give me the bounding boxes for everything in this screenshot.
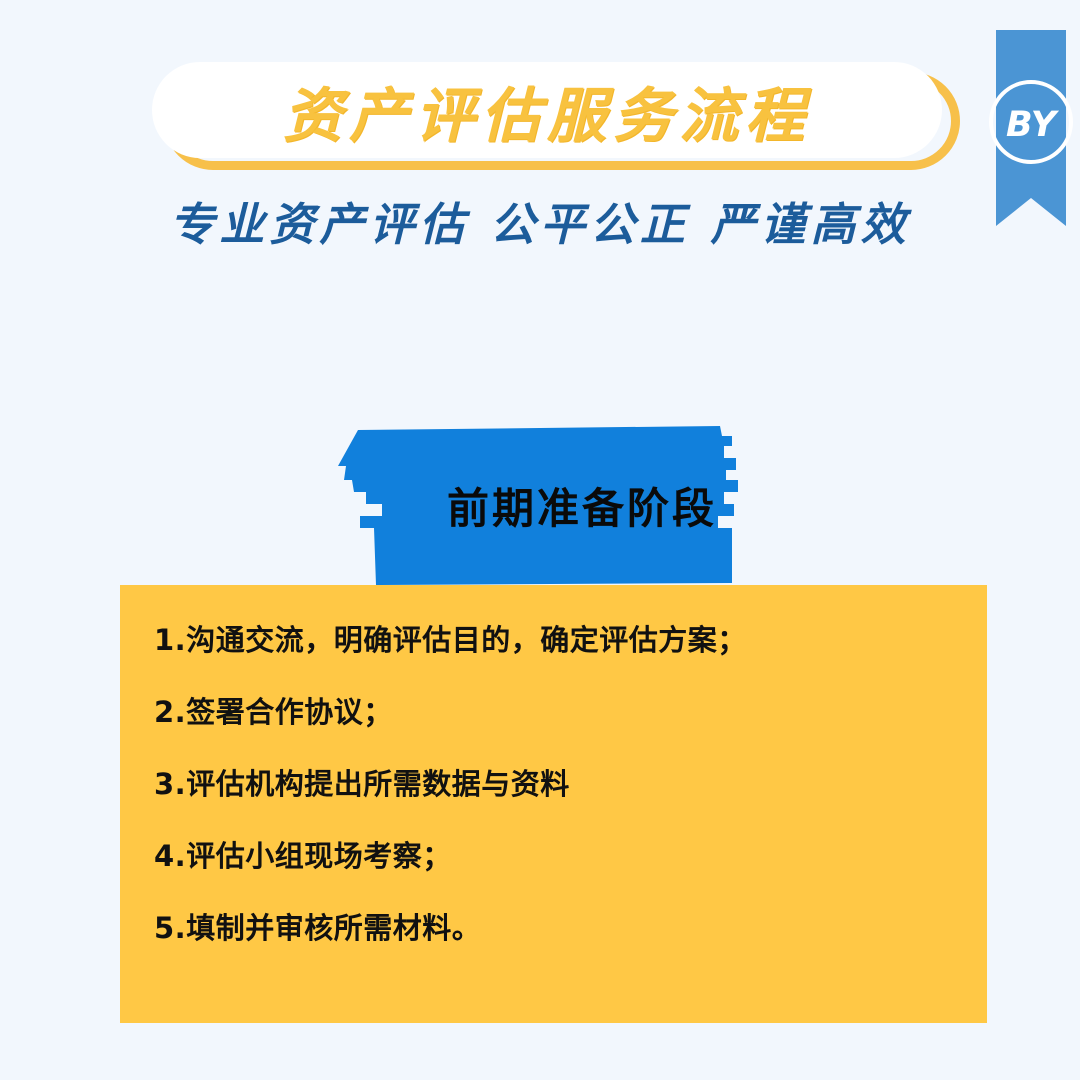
list-item: 4.评估小组现场考察； [154,841,953,873]
stage-banner-shape [320,420,800,590]
list-item: 1.沟通交流，明确评估目的，确定评估方案； [154,625,953,657]
page-subtitle: 专业资产评估 公平公正 严谨高效 [0,188,1080,253]
poster-canvas: 资产评估服务流程 专业资产评估 公平公正 严谨高效 BY 前期准备阶段 1.沟通… [0,0,1080,1080]
list-item: 5.填制并审核所需材料。 [154,913,953,945]
steps-panel: 1.沟通交流，明确评估目的，确定评估方案； 2.签署合作协议； 3.评估机构提出… [120,585,987,1023]
list-item: 3.评估机构提出所需数据与资料 [154,769,953,801]
title-pill: 资产评估服务流程 [152,62,952,164]
ribbon-badge-icon: BY [988,30,1074,246]
page-title: 资产评估服务流程 [152,62,942,158]
svg-text:BY: BY [1006,105,1060,145]
list-item: 2.签署合作协议； [154,697,953,729]
